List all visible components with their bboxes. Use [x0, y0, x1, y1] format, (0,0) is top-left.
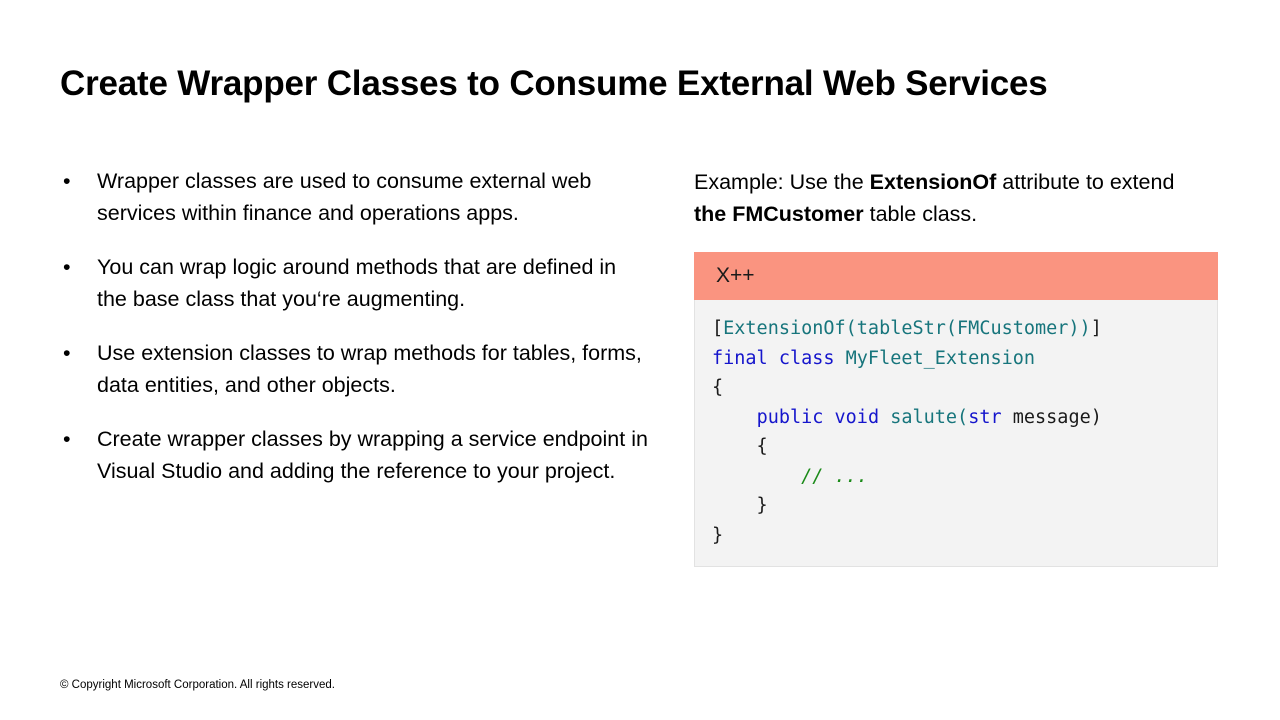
- code-token-type: salute(: [890, 407, 968, 428]
- code-token-pln: [712, 466, 801, 487]
- example-bold-extensionof: ExtensionOf: [870, 170, 997, 194]
- code-token-pln: {: [712, 377, 723, 398]
- bullet-icon: •: [63, 251, 71, 283]
- code-line: final class MyFleet_Extension: [712, 344, 1207, 374]
- code-token-cmt: // ...: [801, 466, 868, 487]
- code-block: [ExtensionOf(tableStr(FMCustomer))]final…: [694, 300, 1218, 567]
- right-content-column: Example: Use the ExtensionOf attribute t…: [694, 166, 1220, 567]
- list-item-text: Create wrapper classes by wrapping a ser…: [97, 427, 648, 483]
- list-item-text: Use extension classes to wrap methods fo…: [97, 341, 642, 397]
- list-item-text: Wrapper classes are used to consume exte…: [97, 169, 591, 225]
- code-token-kw: final class: [712, 348, 846, 369]
- code-line: }: [712, 521, 1207, 551]
- bullet-icon: •: [63, 337, 71, 369]
- code-token-pln: [712, 407, 757, 428]
- list-item: • You can wrap logic around methods that…: [60, 251, 650, 315]
- code-line: {: [712, 432, 1207, 462]
- code-token-pln: {: [712, 436, 768, 457]
- example-description: Example: Use the ExtensionOf attribute t…: [694, 166, 1209, 230]
- example-text-part-2: attribute to extend: [996, 170, 1174, 194]
- code-token-kw: str: [968, 407, 1013, 428]
- code-token-kw: public void: [757, 407, 891, 428]
- list-item-text: You can wrap logic around methods that a…: [97, 255, 616, 311]
- list-item: • Use extension classes to wrap methods …: [60, 337, 650, 401]
- bullet-icon: •: [63, 165, 71, 197]
- code-line: // ...: [712, 462, 1207, 492]
- code-token-pln: [: [712, 318, 723, 339]
- slide-canvas: Create Wrapper Classes to Consume Extern…: [0, 0, 1280, 720]
- code-line: [ExtensionOf(tableStr(FMCustomer))]: [712, 314, 1207, 344]
- code-line: }: [712, 491, 1207, 521]
- example-text-part-1: Example: Use the: [694, 170, 870, 194]
- code-token-pln: }: [712, 495, 768, 516]
- copyright-footer: © Copyright Microsoft Corporation. All r…: [60, 678, 335, 692]
- left-content-column: • Wrapper classes are used to consume ex…: [60, 165, 650, 487]
- code-language-label: X++: [694, 252, 1218, 300]
- bullet-icon: •: [63, 423, 71, 455]
- example-bold-fmcustomer: the FMCustomer: [694, 202, 864, 226]
- code-token-pln: message): [1013, 407, 1102, 428]
- code-token-pln: ]: [1091, 318, 1102, 339]
- page-title: Create Wrapper Classes to Consume Extern…: [60, 62, 1220, 106]
- example-text-part-3: table class.: [864, 202, 978, 226]
- code-token-pln: }: [712, 525, 723, 546]
- code-sample-card: X++ [ExtensionOf(tableStr(FMCustomer))]f…: [694, 252, 1218, 567]
- code-token-type: ExtensionOf(tableStr(FMCustomer)): [723, 318, 1091, 339]
- list-item: • Wrapper classes are used to consume ex…: [60, 165, 650, 229]
- code-line: public void salute(str message): [712, 403, 1207, 433]
- code-line: {: [712, 373, 1207, 403]
- code-token-type: MyFleet_Extension: [846, 348, 1035, 369]
- list-item: • Create wrapper classes by wrapping a s…: [60, 423, 650, 487]
